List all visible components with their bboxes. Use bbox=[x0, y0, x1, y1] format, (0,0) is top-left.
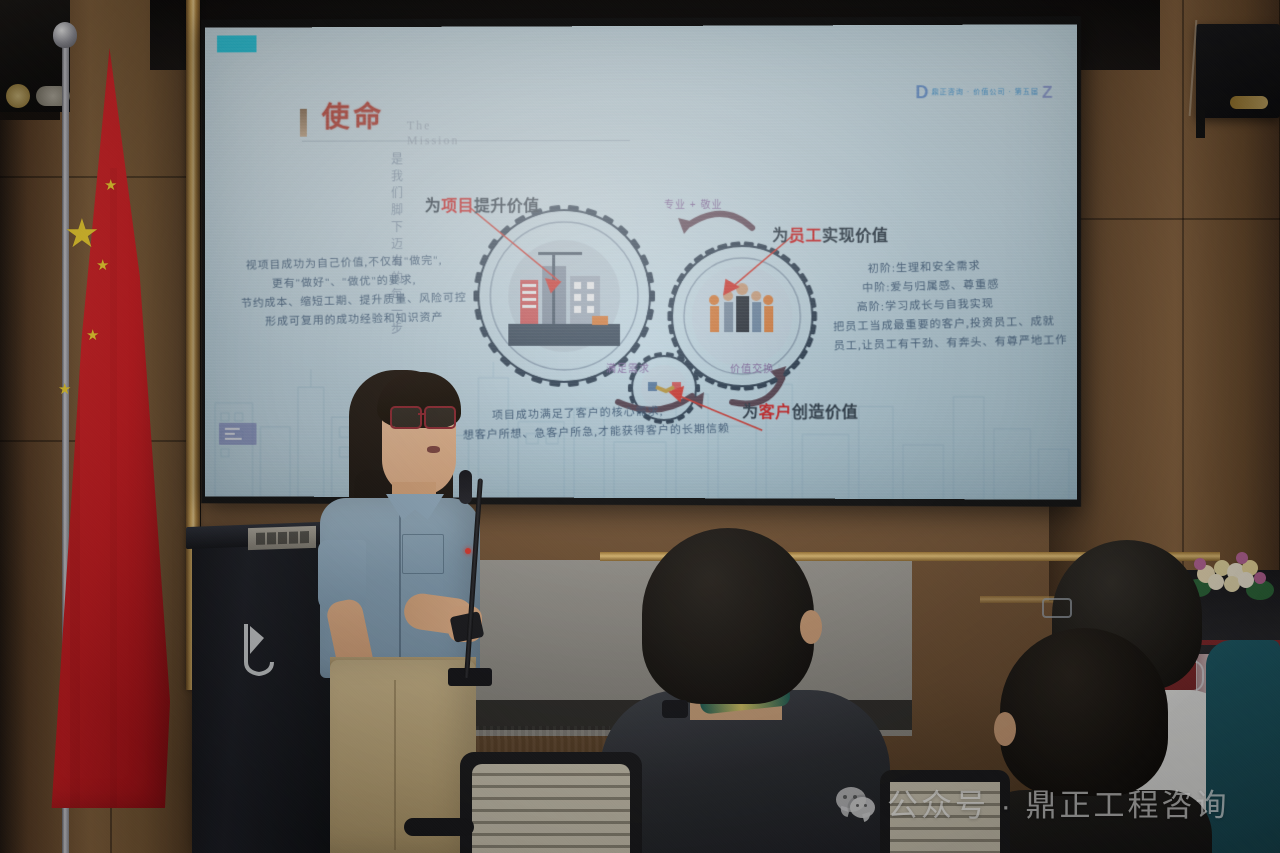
arrow-label-bottom-right: 价值交换 bbox=[730, 360, 774, 375]
flag-star-small: ★ bbox=[96, 258, 109, 273]
microphone-icon bbox=[459, 470, 472, 504]
flag-finial bbox=[53, 22, 77, 48]
slide-brand-logo: D 鼎正咨询 · 价值公司 · 第五届 Z bbox=[915, 83, 1052, 101]
handwriting-left-block: 视项目成功为自己价值,不仅有"做完", 更有"做好"、"做优"的要求, 节约成本… bbox=[246, 251, 468, 333]
logo-left-mark: D bbox=[915, 83, 928, 101]
speaker-mouth bbox=[427, 446, 440, 453]
heading-staff: 为员工实现价值 bbox=[772, 222, 888, 246]
flag-star-large: ★ bbox=[64, 214, 100, 254]
handwriting-right-block: 初阶:生理和安全需求 中阶:爱与归属感、尊重感 高阶:学习成长与自我实现 把员工… bbox=[831, 255, 1068, 357]
slide-title-en: The Mission bbox=[407, 118, 459, 148]
speaker-brand-badge bbox=[1230, 96, 1268, 109]
wall-award-badge bbox=[6, 84, 30, 108]
title-accent-bar bbox=[300, 109, 307, 137]
podium bbox=[192, 530, 332, 853]
wechat-icon bbox=[836, 787, 876, 819]
microphone-led-indicator bbox=[465, 548, 471, 554]
heading-client: 为客户创造价值 bbox=[742, 398, 858, 422]
arrow-label-top: 专业 + 敬业 bbox=[664, 196, 722, 211]
flag-star-small: ★ bbox=[104, 178, 117, 193]
wristwatch-icon bbox=[662, 700, 688, 718]
attendee-ear bbox=[994, 712, 1016, 746]
flag-star-small: ★ bbox=[58, 382, 71, 397]
handwriting-bottom-block: 项目成功满足了客户的核心需求, 想客户所想、急客户所急,才能获得客户的长期信赖 bbox=[492, 401, 730, 445]
title-divider bbox=[302, 140, 630, 142]
eyeglasses-icon bbox=[390, 406, 458, 426]
slide-menu-badge[interactable] bbox=[219, 423, 256, 445]
microphone-base bbox=[448, 668, 492, 686]
chair-armrest bbox=[404, 818, 474, 836]
wechat-watermark: 公众号 · 鼎正工程咨询 bbox=[836, 780, 1230, 825]
slide-title-cn: 使命 bbox=[322, 105, 385, 133]
watermark-text: 公众号 · 鼎正工程咨询 bbox=[887, 780, 1230, 825]
panel-seam bbox=[1182, 0, 1184, 600]
eyeglasses-icon bbox=[1042, 598, 1072, 618]
slide-title-block: 使命 The Mission 是我们脚下迈出的每一步 bbox=[322, 105, 385, 133]
podium-sail-logo bbox=[236, 620, 282, 676]
chair-mesh-panel bbox=[472, 764, 630, 853]
conference-photo: D 鼎正咨询 · 价值公司 · 第五届 Z 使命 The Mission 是我们… bbox=[0, 0, 1280, 853]
logo-center-text: 鼎正咨询 · 价值公司 · 第五届 bbox=[931, 87, 1039, 97]
attendee-head bbox=[1000, 628, 1168, 796]
attendee-head bbox=[642, 528, 814, 704]
arrow-label-bottom-left: 满足需求 bbox=[606, 360, 650, 375]
podium-nameplate bbox=[248, 526, 316, 550]
slide-corner-accent bbox=[217, 35, 256, 52]
speaker-shirt-pocket bbox=[402, 534, 444, 574]
panel-seam bbox=[1050, 218, 1280, 220]
projection-screen[interactable]: D 鼎正咨询 · 价值公司 · 第五届 Z 使命 The Mission 是我们… bbox=[205, 24, 1077, 499]
logo-right-mark: Z bbox=[1042, 83, 1053, 100]
attendee-ear bbox=[800, 610, 822, 644]
flag-star-small: ★ bbox=[86, 328, 99, 343]
heading-project: 为项目提升价值 bbox=[425, 192, 540, 216]
speaker-mount-arm bbox=[1196, 110, 1205, 138]
